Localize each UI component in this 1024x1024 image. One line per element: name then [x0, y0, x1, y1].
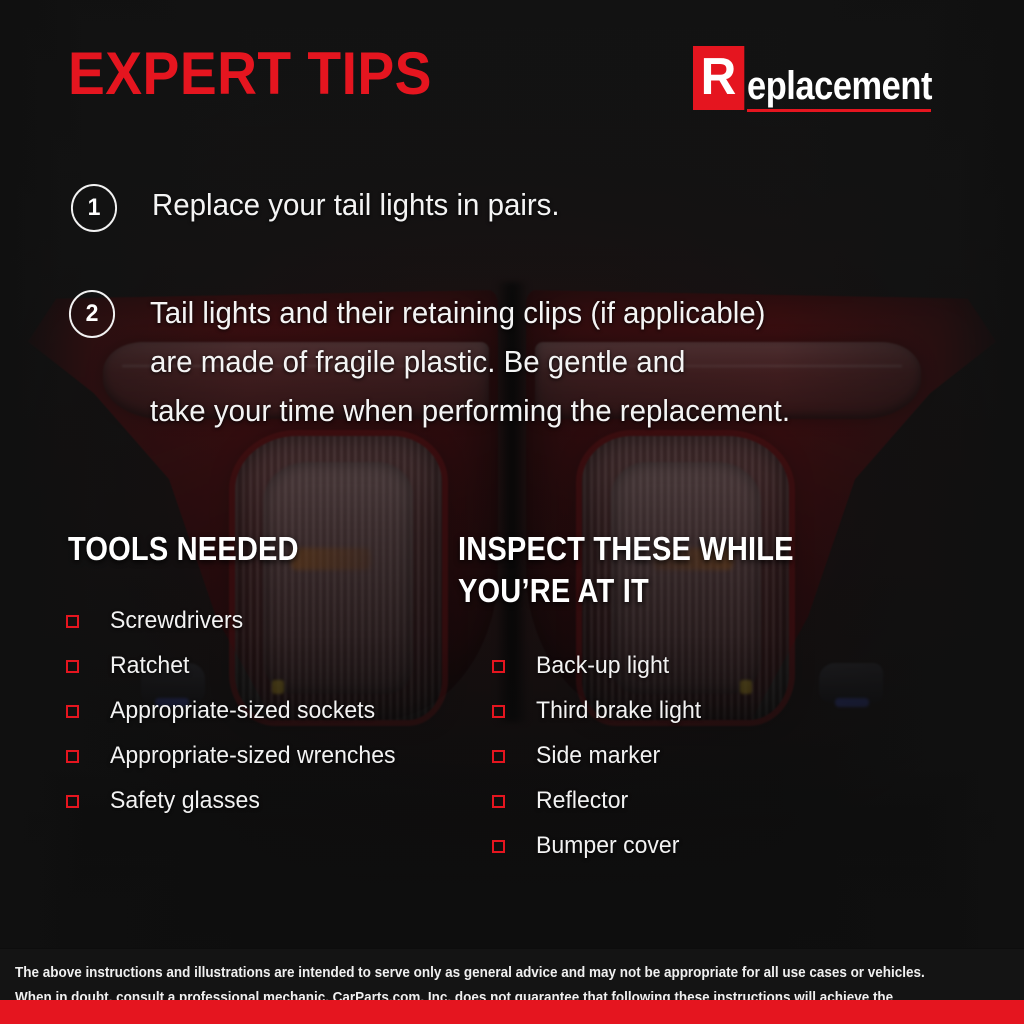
expert-tips-infographic: EXPERT TIPS R eplacement 1 Replace your … [0, 0, 1024, 1024]
tip-item-1: 1 Replace your tail lights in pairs. [70, 182, 581, 232]
list-item-label: Appropriate-sized sockets [110, 699, 375, 723]
tip-number-badge: 2 [69, 290, 115, 338]
tools-needed-list: Screwdrivers Ratchet Appropriate-sized s… [66, 598, 407, 823]
list-item: Appropriate-sized wrenches [66, 733, 407, 778]
logo-wordmark-wrap: eplacement [747, 46, 962, 106]
checkbox-icon [492, 795, 505, 808]
tip-number-badge: 1 [71, 184, 117, 232]
list-item-label: Back-up light [536, 654, 669, 678]
list-item-label: Ratchet [110, 654, 189, 678]
tools-needed-heading: TOOLS NEEDED [68, 528, 299, 570]
content-layer: EXPERT TIPS R eplacement 1 Replace your … [0, 0, 1024, 1024]
list-item: Ratchet [66, 643, 407, 688]
replacement-logo: R eplacement [693, 46, 962, 110]
bottom-accent-bar [0, 1000, 1024, 1024]
list-item: Bumper cover [492, 823, 708, 868]
list-item: Third brake light [492, 688, 708, 733]
footer-disclaimer-bar: The above instructions and illustrations… [0, 948, 1024, 1000]
checkbox-icon [66, 750, 79, 763]
list-item-label: Third brake light [536, 699, 701, 723]
logo-underline [747, 109, 931, 112]
logo-wordmark: eplacement [747, 46, 932, 106]
list-item-label: Reflector [536, 789, 628, 813]
inspect-these-list: Back-up light Third brake light Side mar… [492, 643, 708, 868]
checkbox-icon [66, 615, 79, 628]
list-item: Side marker [492, 733, 708, 778]
checkbox-icon [492, 750, 505, 763]
list-item-label: Appropriate-sized wrenches [110, 744, 396, 768]
checkbox-icon [66, 705, 79, 718]
checkbox-icon [492, 705, 505, 718]
list-item-label: Safety glasses [110, 789, 260, 813]
checkbox-icon [66, 660, 79, 673]
tip-item-2: 2 Tail lights and their retaining clips … [68, 288, 824, 435]
page-title: EXPERT TIPS [68, 44, 432, 104]
checkbox-icon [492, 840, 505, 853]
inspect-these-heading: INSPECT THESE WHILE YOU’RE AT IT [458, 528, 794, 612]
logo-initial-badge: R [693, 46, 744, 110]
list-item: Reflector [492, 778, 708, 823]
tip-text: Tail lights and their retaining clips (i… [150, 288, 790, 435]
list-item: Safety glasses [66, 778, 407, 823]
list-item-label: Screwdrivers [110, 609, 243, 633]
list-item-label: Side marker [536, 744, 660, 768]
tip-text: Replace your tail lights in pairs. [152, 182, 560, 228]
list-item: Back-up light [492, 643, 708, 688]
list-item: Screwdrivers [66, 598, 407, 643]
list-item: Appropriate-sized sockets [66, 688, 407, 733]
list-item-label: Bumper cover [536, 834, 679, 858]
checkbox-icon [66, 795, 79, 808]
checkbox-icon [492, 660, 505, 673]
